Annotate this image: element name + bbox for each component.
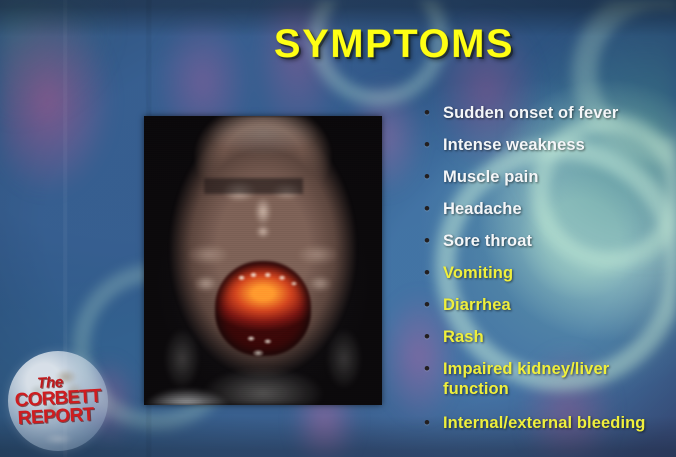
list-item-label: Muscle pain (443, 167, 674, 187)
list-item: • Vomiting (424, 263, 674, 283)
list-item-label: Impaired kidney/liver function (443, 359, 674, 399)
symptoms-list: • Sudden onset of fever • Intense weakne… (424, 103, 674, 445)
corbett-report-logo: The CORBETT REPORT (8, 351, 108, 451)
bullet-dot-icon: • (424, 359, 443, 379)
list-item: • Internal/external bleeding (424, 413, 674, 433)
list-item: • Rash (424, 327, 674, 347)
bullet-dot-icon: • (424, 103, 443, 123)
photo-grain-overlay (144, 116, 382, 405)
list-item: • Headache (424, 199, 674, 219)
list-item: • Intense weakness (424, 135, 674, 155)
bullet-dot-icon: • (424, 327, 443, 347)
list-item: • Muscle pain (424, 167, 674, 187)
list-item-label: Rash (443, 327, 674, 347)
logo-wordmark: The CORBETT REPORT (5, 348, 110, 453)
list-item: • Diarrhea (424, 295, 674, 315)
list-item: • Sudden onset of fever (424, 103, 674, 123)
clinical-photo (144, 116, 382, 405)
slide: SYMPTOMS • Sudden onset of fever • Inten… (0, 0, 676, 457)
list-item-label: Sudden onset of fever (443, 103, 674, 123)
bullet-dot-icon: • (424, 263, 443, 283)
logo-line-report: REPORT (17, 404, 94, 430)
list-item: • Impaired kidney/liver function (424, 359, 674, 399)
bullet-dot-icon: • (424, 231, 443, 251)
list-item: • Sore throat (424, 231, 674, 251)
bullet-dot-icon: • (424, 199, 443, 219)
bullet-dot-icon: • (424, 295, 443, 315)
bullet-dot-icon: • (424, 167, 443, 187)
bullet-dot-icon: • (424, 135, 443, 155)
list-item-label: Intense weakness (443, 135, 674, 155)
list-item-label: Internal/external bleeding (443, 413, 674, 433)
list-item-label: Sore throat (443, 231, 674, 251)
page-title: SYMPTOMS (0, 22, 676, 67)
list-item-label: Diarrhea (443, 295, 674, 315)
list-item-label: Headache (443, 199, 674, 219)
bullet-dot-icon: • (424, 413, 443, 433)
list-item-label: Vomiting (443, 263, 674, 283)
